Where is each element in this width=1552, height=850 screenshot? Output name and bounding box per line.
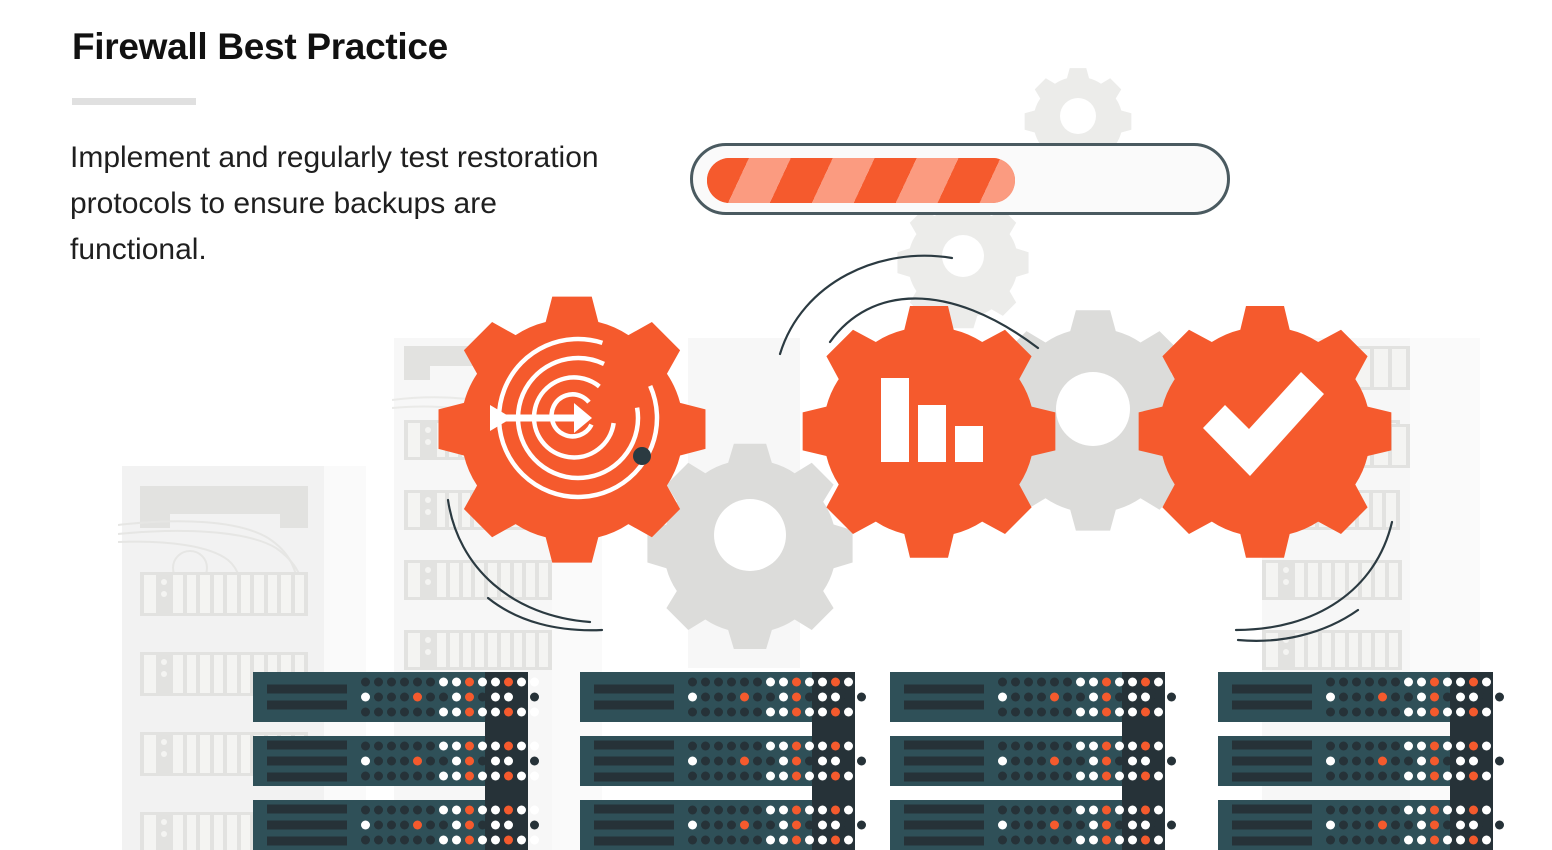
rack-unit-dots: [1326, 742, 1504, 781]
progress-fill: [707, 158, 1015, 203]
rack-unit: [253, 672, 485, 722]
rack-unit-bars: [267, 805, 347, 846]
progress-stripes: [707, 158, 1015, 203]
rack-unit: [580, 736, 812, 786]
server-rack: [1218, 672, 1493, 850]
rack-unit-bars: [594, 741, 674, 782]
rack-unit: [1218, 736, 1450, 786]
rack-unit-bars: [1232, 805, 1312, 846]
rack-unit-bars: [904, 805, 984, 846]
rack-unit-dots: [688, 742, 866, 781]
rack-unit: [253, 800, 485, 850]
page-title: Firewall Best Practice: [72, 26, 448, 68]
rack-unit-dots: [688, 678, 866, 717]
bg-rack-unit: [1262, 630, 1402, 670]
bg-rack-unit: [404, 630, 552, 670]
body-paragraph: Implement and regularly test restoration…: [70, 135, 615, 273]
rack-unit-dots: [998, 678, 1176, 717]
analytics-gear[interactable]: [793, 296, 1065, 568]
rack-unit-bars: [904, 685, 984, 710]
bg-rack-cap-1: [140, 486, 308, 528]
rack-unit-bars: [594, 805, 674, 846]
rack-unit-bars: [267, 741, 347, 782]
rack-unit: [253, 736, 485, 786]
server-rack: [253, 672, 528, 850]
rack-unit-bars: [1232, 741, 1312, 782]
rack-unit: [1218, 800, 1450, 850]
rack-unit: [580, 672, 812, 722]
rack-unit: [890, 672, 1122, 722]
rack-unit-bars: [267, 685, 347, 710]
rack-unit-bars: [594, 685, 674, 710]
rack-unit-dots: [998, 742, 1176, 781]
rack-unit: [1218, 672, 1450, 722]
title-divider: [72, 98, 196, 105]
rack-unit-dots: [361, 678, 539, 717]
gear-icon: [439, 297, 706, 563]
rack-unit-dots: [1326, 678, 1504, 717]
server-rack: [580, 672, 855, 850]
bg-rack-unit: [140, 572, 308, 616]
rack-unit-dots: [688, 806, 866, 845]
server-rack: [890, 672, 1165, 850]
illustration-canvas: Firewall Best Practice Implement and reg…: [0, 0, 1552, 850]
rack-unit-bars: [1232, 685, 1312, 710]
rack-unit-dots: [361, 742, 539, 781]
rack-unit-bars: [904, 741, 984, 782]
rack-unit: [890, 800, 1122, 850]
rack-unit: [890, 736, 1122, 786]
rack-unit-dots: [998, 806, 1176, 845]
rack-unit-dots: [361, 806, 539, 845]
rack-unit: [580, 800, 812, 850]
restoration-progress-bar[interactable]: [690, 143, 1230, 215]
rack-unit-dots: [1326, 806, 1504, 845]
target-gear[interactable]: [427, 285, 717, 575]
verified-gear[interactable]: [1129, 296, 1401, 568]
